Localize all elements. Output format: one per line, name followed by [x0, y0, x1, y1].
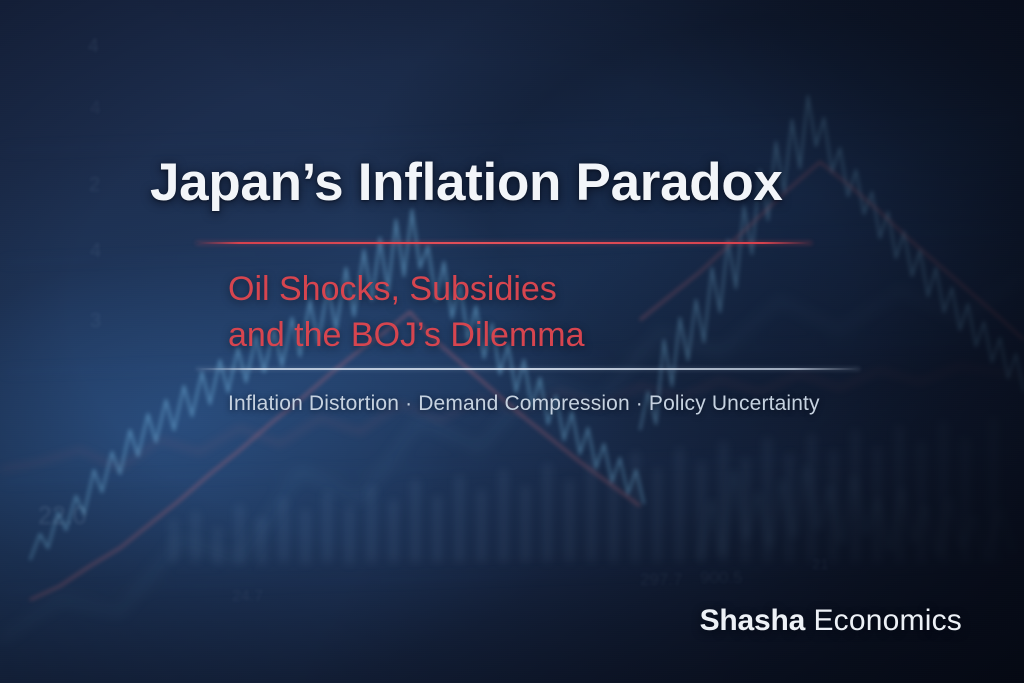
- brand-name-secondary: Economics: [813, 604, 962, 637]
- page-title: Japan’s Inflation Paradox: [150, 152, 783, 213]
- title-slide: 4 4 2 4 3 22.0 297.7 900.5 24.7 21 Japan…: [0, 0, 1024, 683]
- subtitle-line-1: Oil Shocks, Subsidies: [228, 266, 585, 312]
- subtitle-block: Oil Shocks, Subsidies and the BOJ’s Dile…: [228, 266, 585, 358]
- tagline: Inflation Distortion · Demand Compressio…: [228, 392, 820, 416]
- subtitle-line-2: and the BOJ’s Dilemma: [228, 312, 585, 358]
- brand-name-primary: Shasha: [700, 604, 806, 637]
- brand-logo: Shasha Economics: [700, 604, 962, 638]
- divider-red: [196, 242, 812, 244]
- divider-light: [196, 368, 860, 370]
- slide-content: Japan’s Inflation Paradox Oil Shocks, Su…: [0, 0, 1024, 683]
